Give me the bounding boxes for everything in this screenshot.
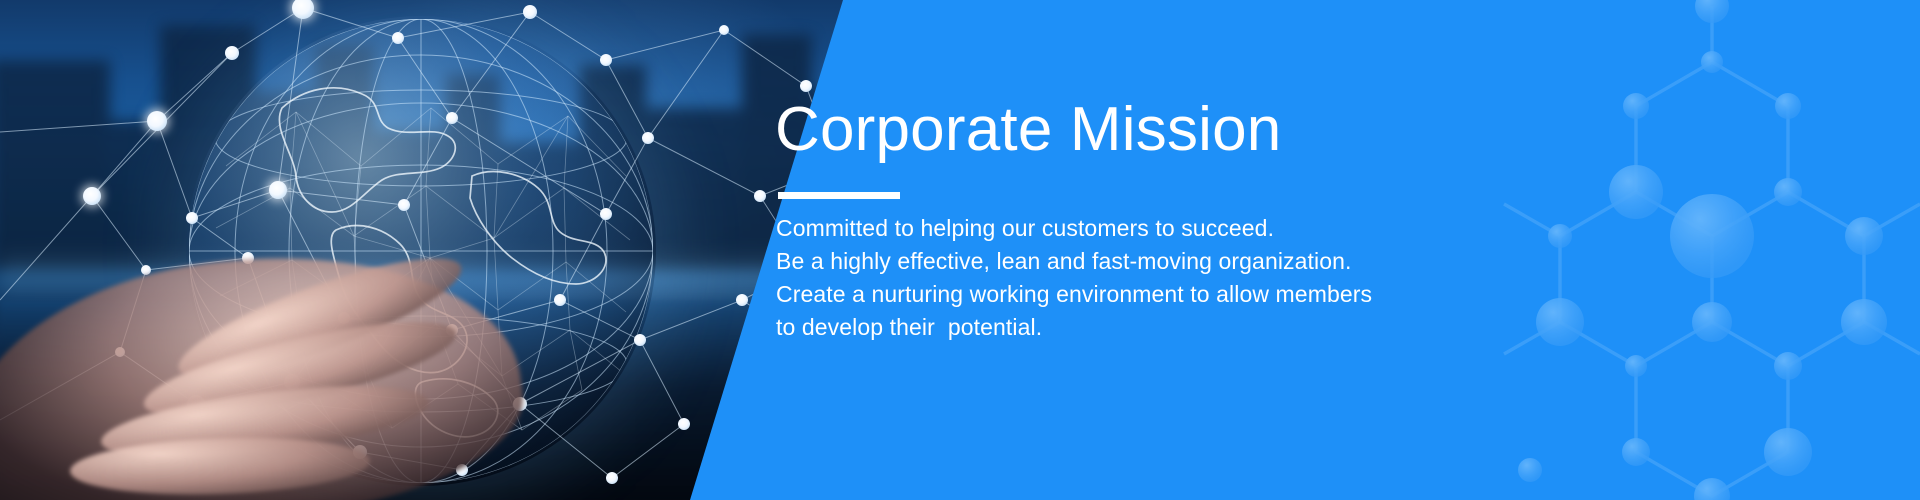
mission-line: Committed to helping our customers to su… (776, 212, 1416, 245)
page-title: Corporate Mission (775, 95, 1281, 165)
banner-photo (0, 0, 900, 500)
banner-content: Corporate Mission Committed to helping o… (770, 0, 1670, 500)
mission-line: Be a highly effective, lean and fast-mov… (776, 245, 1416, 278)
corporate-mission-banner: Corporate Mission Committed to helping o… (0, 0, 1920, 500)
mission-statement: Committed to helping our customers to su… (776, 212, 1416, 344)
mission-line: to develop their potential. (776, 311, 1416, 344)
title-divider (778, 192, 900, 199)
mission-line: Create a nurturing working environment t… (776, 278, 1416, 311)
